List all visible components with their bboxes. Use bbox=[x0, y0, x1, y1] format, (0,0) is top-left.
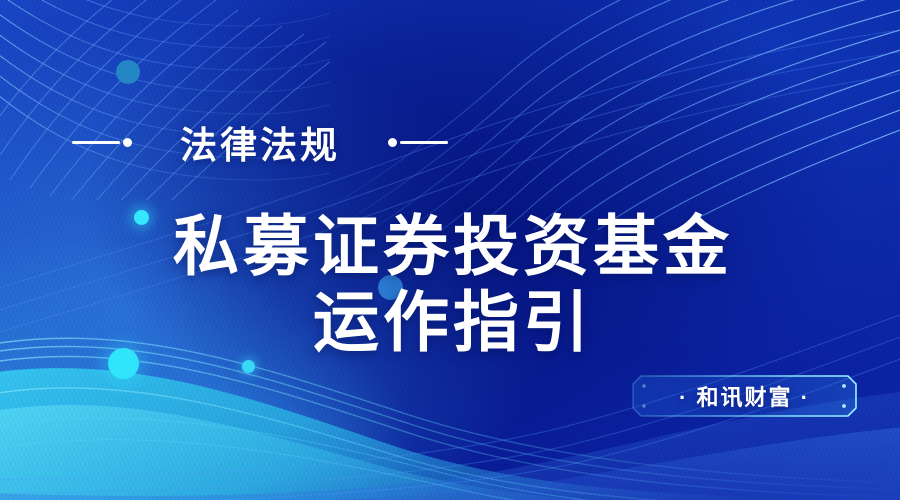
brand-badge-label: · 和讯财富 · bbox=[632, 375, 857, 417]
category-row: 法律法规 bbox=[0, 116, 520, 168]
background-dark-core bbox=[0, 0, 900, 500]
brand-badge: · 和讯财富 · bbox=[632, 375, 857, 417]
left-rule-dot bbox=[123, 138, 132, 147]
right-rule-line bbox=[400, 141, 448, 144]
right-rule-dot bbox=[388, 138, 397, 147]
left-rule-line bbox=[72, 141, 120, 144]
category-label: 法律法规 bbox=[180, 115, 340, 169]
banner-poster: 法律法规 私募证券投资基金 运作指引 bbox=[0, 0, 900, 500]
